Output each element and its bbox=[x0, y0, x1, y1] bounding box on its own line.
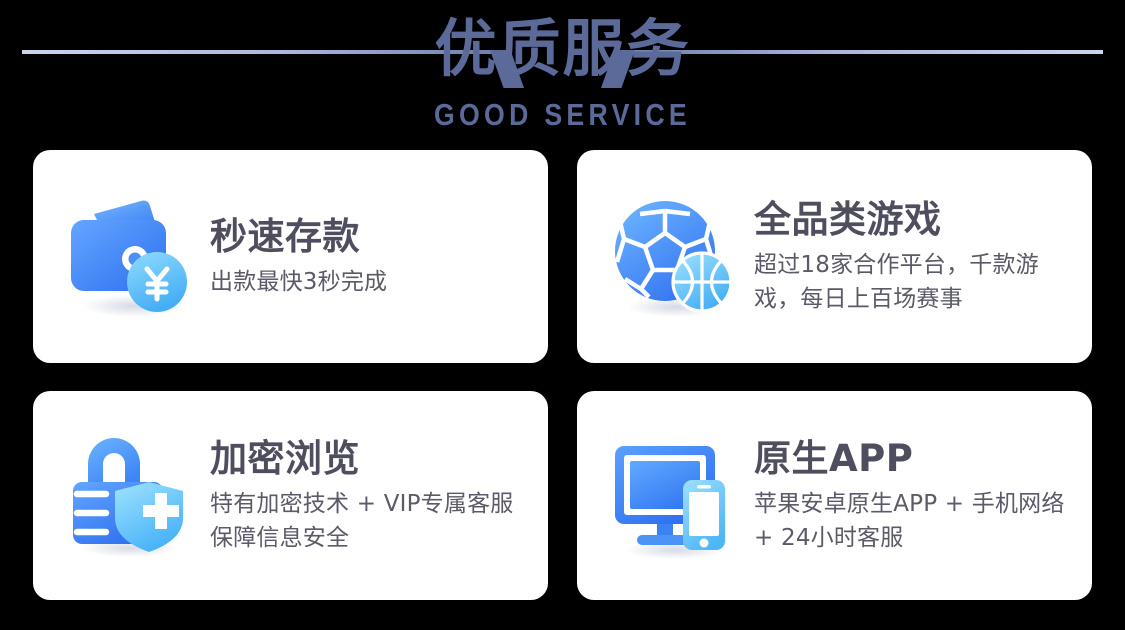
card-text-block: 原生APP 苹果安卓原生APP + 手机网络 + 24小时客服 bbox=[754, 437, 1092, 555]
header: 优质服务 GOOD SERVICE bbox=[0, 0, 1125, 150]
lock-shield-icon bbox=[63, 428, 198, 563]
monitor-phone-icon bbox=[607, 428, 742, 563]
page-title: 优质服务 bbox=[0, 12, 1125, 86]
card-text-block: 全品类游戏 超过18家合作平台，千款游戏，每日上百场赛事 bbox=[754, 198, 1092, 316]
card-description: 出款最快3秒完成 bbox=[210, 265, 534, 299]
card-text-block: 秒速存款 出款最快3秒完成 bbox=[210, 215, 548, 299]
feature-card-deposit[interactable]: 秒速存款 出款最快3秒完成 bbox=[33, 150, 548, 363]
card-title: 秒速存款 bbox=[210, 215, 534, 259]
feature-card-native-app[interactable]: 原生APP 苹果安卓原生APP + 手机网络 + 24小时客服 bbox=[577, 391, 1092, 600]
card-description: 超过18家合作平台，千款游戏，每日上百场赛事 bbox=[754, 248, 1078, 316]
soccer-basketball-icon-svg bbox=[607, 189, 742, 324]
feature-card-games[interactable]: 全品类游戏 超过18家合作平台，千款游戏，每日上百场赛事 bbox=[577, 150, 1092, 363]
promo-banner: 优质服务 GOOD SERVICE bbox=[0, 0, 1125, 630]
card-description: 苹果安卓原生APP + 手机网络 + 24小时客服 bbox=[754, 487, 1078, 555]
soccer-basketball-icon bbox=[607, 189, 742, 324]
lock-shield-icon-svg bbox=[63, 428, 198, 563]
wallet-yen-icon-svg bbox=[63, 189, 198, 324]
card-text-block: 加密浏览 特有加密技术 + VIP专属客服保障信息安全 bbox=[210, 437, 548, 555]
feature-card-grid: 秒速存款 出款最快3秒完成 bbox=[33, 150, 1092, 600]
card-title: 加密浏览 bbox=[210, 437, 534, 481]
monitor-phone-icon-svg bbox=[607, 428, 742, 563]
card-title: 全品类游戏 bbox=[754, 198, 1078, 242]
card-description: 特有加密技术 + VIP专属客服保障信息安全 bbox=[210, 487, 534, 555]
card-title: 原生APP bbox=[754, 437, 1078, 481]
page-subtitle: GOOD SERVICE bbox=[79, 96, 1047, 134]
wallet-yen-icon bbox=[63, 189, 198, 324]
feature-card-encryption[interactable]: 加密浏览 特有加密技术 + VIP专属客服保障信息安全 bbox=[33, 391, 548, 600]
